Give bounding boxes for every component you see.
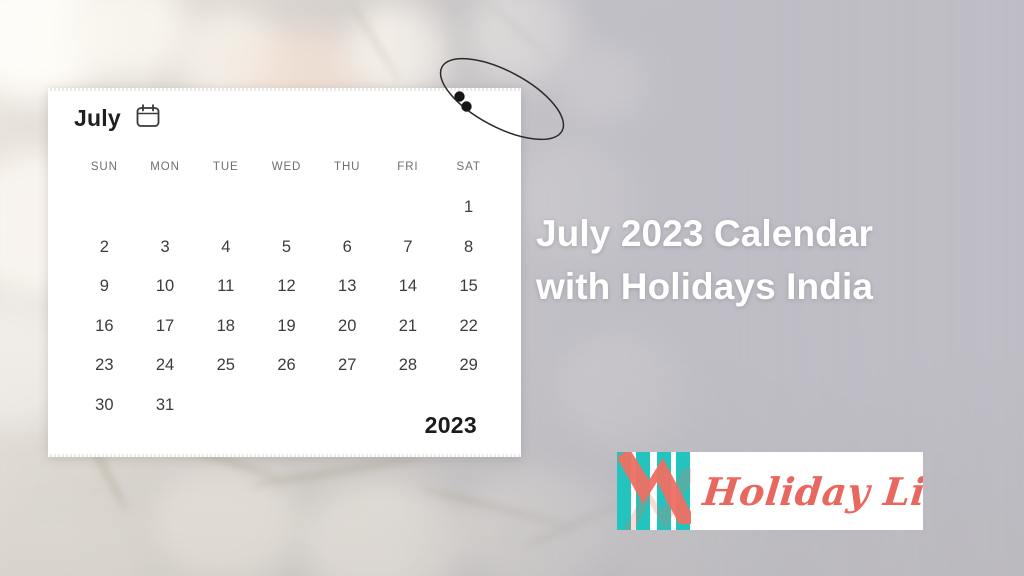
card-top-edge xyxy=(48,88,521,91)
day-cell[interactable]: 4 xyxy=(195,228,256,268)
weekday-thu: THU xyxy=(317,161,378,173)
day-cell[interactable]: 1 xyxy=(438,188,499,228)
holidaylist-m-mark xyxy=(617,452,691,530)
holidaylist-logo[interactable]: Holiday List xyxy=(617,452,923,530)
weekday-sun: SUN xyxy=(74,161,135,173)
weekday-wed: WED xyxy=(256,161,317,173)
day-cell[interactable]: 25 xyxy=(195,346,256,386)
weekday-mon: MON xyxy=(135,161,196,173)
day-grid: 1234567891011121314151617181920212223242… xyxy=(74,188,499,425)
day-cell-empty xyxy=(317,188,378,228)
day-cell[interactable]: 17 xyxy=(135,307,196,347)
day-cell[interactable]: 19 xyxy=(256,307,317,347)
day-cell[interactable]: 24 xyxy=(135,346,196,386)
day-cell[interactable]: 21 xyxy=(378,307,439,347)
day-cell[interactable]: 10 xyxy=(135,267,196,307)
year-label: 2023 xyxy=(425,412,477,439)
day-cell[interactable]: 29 xyxy=(438,346,499,386)
day-cell[interactable]: 5 xyxy=(256,228,317,268)
weekday-tue: TUE xyxy=(195,161,256,173)
card-bottom-edge xyxy=(48,454,521,457)
calendar-header: July xyxy=(74,103,161,134)
day-cell[interactable]: 31 xyxy=(135,386,196,426)
title-line-1: July 2023 Calendar xyxy=(536,208,1014,261)
day-cell[interactable]: 22 xyxy=(438,307,499,347)
day-cell[interactable]: 26 xyxy=(256,346,317,386)
day-cell[interactable]: 9 xyxy=(74,267,135,307)
weekday-sat: SAT xyxy=(438,161,499,173)
day-cell-empty xyxy=(135,188,196,228)
day-cell[interactable]: 18 xyxy=(195,307,256,347)
calendar-icon xyxy=(135,103,161,134)
day-cell[interactable]: 3 xyxy=(135,228,196,268)
day-cell[interactable]: 27 xyxy=(317,346,378,386)
poster-canvas: July SUNMONTUEWEDTHUFRISAT 1234567891011… xyxy=(0,0,1024,576)
weekday-header-row: SUNMONTUEWEDTHUFRISAT xyxy=(74,161,499,173)
day-cell[interactable]: 2 xyxy=(74,228,135,268)
calendar-card: July SUNMONTUEWEDTHUFRISAT 1234567891011… xyxy=(48,88,521,457)
day-cell-empty xyxy=(378,188,439,228)
day-cell[interactable]: 12 xyxy=(256,267,317,307)
day-cell[interactable]: 16 xyxy=(74,307,135,347)
day-cell[interactable]: 14 xyxy=(378,267,439,307)
page-title: July 2023 Calendar with Holidays India xyxy=(536,208,1014,313)
day-cell[interactable]: 28 xyxy=(378,346,439,386)
day-cell[interactable]: 6 xyxy=(317,228,378,268)
weekday-fri: FRI xyxy=(378,161,439,173)
day-cell[interactable]: 7 xyxy=(378,228,439,268)
logo-wordmark: Holiday List xyxy=(689,469,923,514)
day-cell-empty xyxy=(256,188,317,228)
day-cell[interactable]: 20 xyxy=(317,307,378,347)
day-cell[interactable]: 11 xyxy=(195,267,256,307)
day-cell[interactable]: 15 xyxy=(438,267,499,307)
day-cell-empty xyxy=(74,188,135,228)
day-cell[interactable]: 8 xyxy=(438,228,499,268)
day-cell[interactable]: 13 xyxy=(317,267,378,307)
month-label: July xyxy=(74,105,121,132)
day-cell-empty xyxy=(195,188,256,228)
day-cell[interactable]: 23 xyxy=(74,346,135,386)
title-line-2: with Holidays India xyxy=(536,261,1014,314)
day-cell[interactable]: 30 xyxy=(74,386,135,426)
